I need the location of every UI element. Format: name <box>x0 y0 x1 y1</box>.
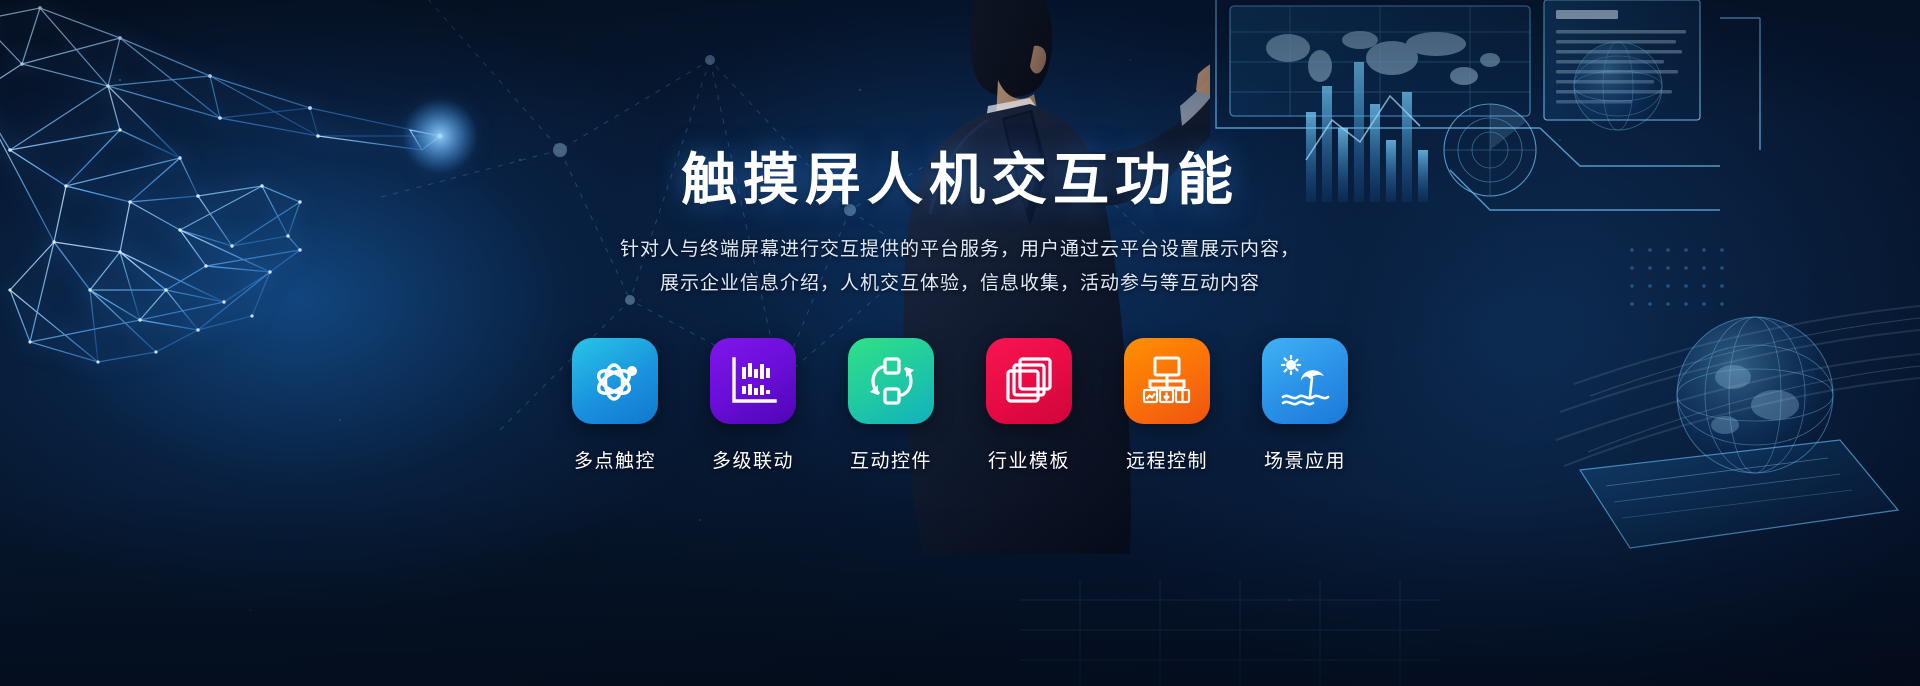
feature-tile-remote[interactable] <box>1124 338 1210 424</box>
subtitle-line-2: 展示企业信息介绍，人机交互体验，信息收集，活动参与等互动内容 <box>0 266 1920 300</box>
banner-content: 触摸屏人机交互功能 针对人与终端屏幕进行交互提供的平台服务，用户通过云平台设置展… <box>0 0 1920 686</box>
hero-banner: 触摸屏人机交互功能 针对人与终端屏幕进行交互提供的平台服务，用户通过云平台设置展… <box>0 0 1920 686</box>
headline-block: 触摸屏人机交互功能 <box>0 150 1920 213</box>
subtitle-block: 针对人与终端屏幕进行交互提供的平台服务，用户通过云平台设置展示内容， 展示企业信… <box>0 232 1920 300</box>
beach-scene-icon <box>1279 355 1331 407</box>
feature-label-remote: 远程控制 <box>1126 446 1208 473</box>
feature-tile-multilevel[interactable] <box>710 338 796 424</box>
feature-label-scenario: 场景应用 <box>1264 446 1346 473</box>
feature-item-multilevel[interactable]: 多级联动 <box>710 338 796 473</box>
bar-chart-icon <box>727 355 779 407</box>
wave-icon <box>1283 396 1328 404</box>
feature-label-templates: 行业模板 <box>988 446 1070 473</box>
feature-tile-scenario[interactable] <box>1262 338 1348 424</box>
atom-icon <box>589 355 641 407</box>
feature-tile-multitouch[interactable] <box>572 338 658 424</box>
feature-item-widgets[interactable]: 互动控件 <box>848 338 934 473</box>
stacked-cards-icon <box>1003 355 1055 407</box>
remote-monitor-icon <box>1141 355 1193 407</box>
feature-label-multilevel: 多级联动 <box>712 446 794 473</box>
sun-icon <box>1286 360 1296 370</box>
subtitle-line-1: 针对人与终端屏幕进行交互提供的平台服务，用户通过云平台设置展示内容， <box>0 232 1920 266</box>
feature-item-scenario[interactable]: 场景应用 <box>1262 338 1348 473</box>
atom-electron-dot <box>627 366 637 376</box>
feature-icon-row: 多点触控 <box>0 338 1920 473</box>
feature-item-remote[interactable]: 远程控制 <box>1124 338 1210 473</box>
feature-tile-templates[interactable] <box>986 338 1072 424</box>
sync-blocks-icon <box>865 355 917 407</box>
page-title: 触摸屏人机交互功能 <box>681 150 1239 213</box>
feature-label-multitouch: 多点触控 <box>574 446 656 473</box>
feature-tile-widgets[interactable] <box>848 338 934 424</box>
feature-label-widgets: 互动控件 <box>850 446 932 473</box>
feature-item-templates[interactable]: 行业模板 <box>986 338 1072 473</box>
feature-item-multitouch[interactable]: 多点触控 <box>572 338 658 473</box>
